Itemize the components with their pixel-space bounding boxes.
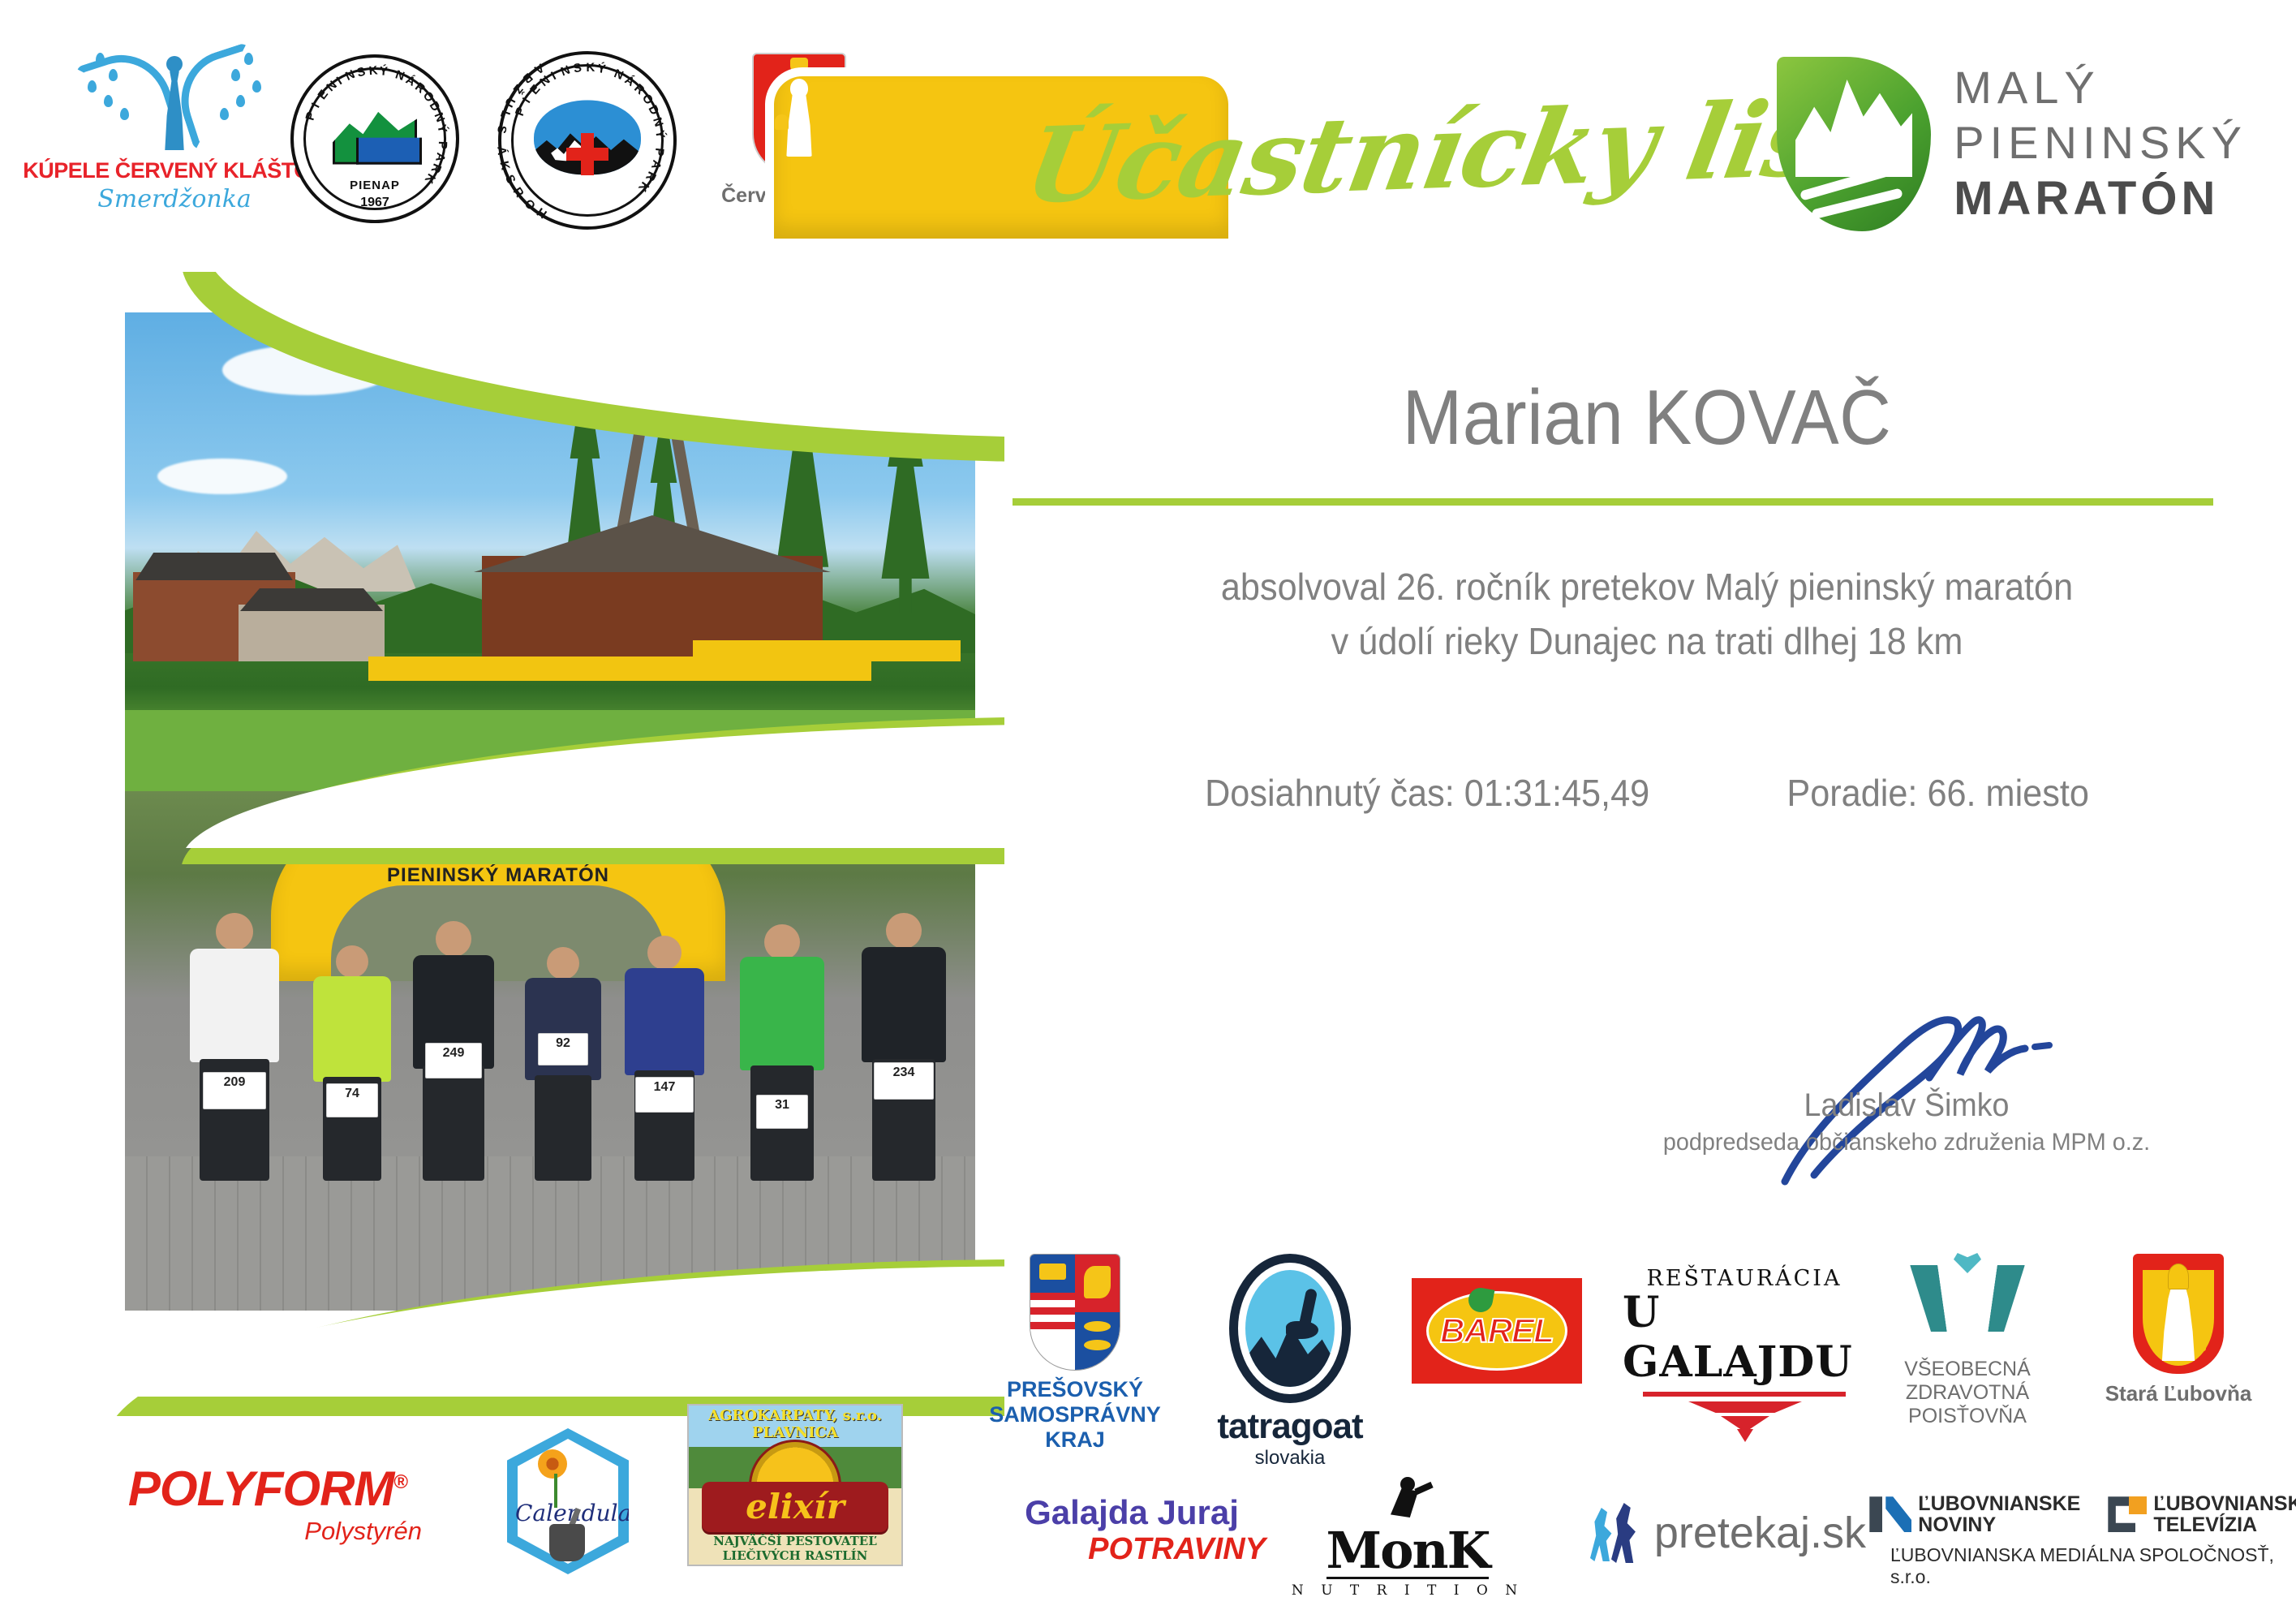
psk-line-1: PREŠOVSKÝ	[989, 1377, 1161, 1402]
runner: 147	[612, 929, 717, 1181]
runner: 209	[174, 913, 295, 1181]
page-title: Účastnícky list	[1014, 64, 1777, 243]
ln-logo-icon	[1869, 1496, 1911, 1532]
bib-number: 147	[635, 1077, 694, 1113]
tv-line-2: TELEVÍZIA	[2153, 1514, 2296, 1535]
sponsor-agrokarpaty-elixir: AGROKARPATY, s.r.o. PLAVNICA elixír NAJV…	[681, 1404, 909, 1566]
noviny-line-2: NOVINY	[1918, 1514, 2080, 1535]
monk-name: MonK	[1326, 1527, 1490, 1579]
mountain-red-cross-seal-icon: P I E N I N S K Ý N Á R O D N Ý P A R K	[498, 51, 677, 230]
bib-number: 92	[538, 1033, 588, 1065]
polyform-name: POLYFORM®	[128, 1461, 407, 1517]
psk-line-3: KRAJ	[989, 1427, 1161, 1453]
bib-number: 31	[756, 1095, 808, 1129]
pienap-year: 1967	[360, 196, 389, 210]
mpm-brand-logo: MALÝ PIENINSKÝ MARATÓN	[1777, 57, 2247, 231]
signature-block: Ladislav Šimko podpredseda občianskeho z…	[1647, 1006, 2166, 1156]
sponsor-pretekaj: pretekaj.sk	[1590, 1501, 1866, 1565]
coat-of-arms-monk-icon	[752, 53, 846, 176]
partner-logo-kupele-cerveny-klastor: KÚPELE ČERVENÝ KLÁŠTOR Smerdžonka	[73, 45, 276, 213]
lt-logo-icon	[2108, 1496, 2147, 1532]
elixir-footer-1: NAJVÄČŠÍ PESTOVATEĽ	[689, 1534, 901, 1548]
certificate-body: absolvoval 26. ročník pretekov Malý pien…	[1052, 560, 2242, 668]
sponsor-u-galajdu: REŠTAURÁCIA U GALAJDU	[1623, 1266, 1866, 1444]
vzp-line-2: ZDRAVOTNÁ	[1904, 1381, 2031, 1405]
brand-line-3: MARATÓN	[1954, 170, 2247, 228]
elixir-header: AGROKARPATY, s.r.o. PLAVNICA	[689, 1407, 901, 1441]
galajda-line-1: Galajda Juraj	[1025, 1493, 1239, 1532]
tatragoat-name: tatragoat	[1217, 1406, 1362, 1447]
angel-water-icon	[81, 45, 268, 158]
goat-mountain-icon	[1229, 1254, 1351, 1403]
polyform-sub: Polystyrén	[304, 1517, 422, 1546]
monk-sub: N U T R I T I O N	[1292, 1582, 1524, 1599]
sponsor-presovsky-kraj: PREŠOVSKÝ SAMOSPRÁVNY KRAJ	[982, 1254, 1168, 1453]
stara-lubovna-caption: Stará Ľubovňa	[2105, 1382, 2252, 1406]
psk-line-2: SAMOSPRÁVNY	[989, 1402, 1161, 1427]
green-leaf-mountain-icon	[1777, 57, 1931, 231]
partner-logo-horska-sluzba: P I E N I N S K Ý N Á R O D N Ý P A R K	[498, 51, 677, 230]
photo-collage: MALÝ PIENINSKÝ MARATÓN 209 74 249	[47, 272, 988, 1359]
coat-of-arms-icon	[1030, 1254, 1120, 1371]
bib-number: 249	[425, 1043, 482, 1078]
lubovnianske-noviny: ĽUBOVNIANSKE NOVINY	[1869, 1493, 2080, 1536]
bib-number: 74	[326, 1083, 378, 1117]
sponsor-vzp: VŠEOBECNÁ ZDRAVOTNÁ POISŤOVŇA	[1874, 1254, 2061, 1427]
vzp-line-3: POISŤOVŇA	[1904, 1405, 2031, 1428]
galajdu-line-2: U GALAJDU	[1623, 1288, 1866, 1387]
red-cross-icon	[566, 133, 608, 175]
signer-role: podpredseda občianskeho združenia MPM o.…	[1658, 1129, 2156, 1156]
galajda-line-2: POTRAVINY	[1088, 1532, 1266, 1567]
green-divider	[1013, 498, 2213, 506]
marathon-start-photo: MALÝ PIENINSKÝ MARATÓN 209 74 249	[125, 791, 975, 1311]
runner: 31	[725, 921, 839, 1181]
media-company-name: ĽUBOVNIANSKA MEDIÁLNA SPOLOČNOSŤ, s.r.o.	[1890, 1544, 2296, 1588]
sponsor-barel: BAREL	[1408, 1278, 1586, 1384]
sponsor-lubovnianska-media: ĽUBOVNIANSKE NOVINY ĽUBOVNIANSKA TELEVÍZ…	[1890, 1493, 2296, 1588]
sponsor-stara-lubovna: Stará Ľubovňa	[2089, 1254, 2268, 1406]
signer-name: Ladislav Šimko	[1662, 1087, 2151, 1124]
elixir-brand: elixír	[702, 1482, 888, 1532]
bib-number: 234	[874, 1062, 934, 1100]
folk-ornament-icon	[1643, 1392, 1846, 1444]
tatragoat-sub: slovakia	[1255, 1447, 1326, 1470]
elixir-footer-2: LIEČIVÝCH RASTLÍN	[689, 1548, 901, 1563]
finish-time: Dosiahnutý čas: 01:31:45,49	[1205, 771, 1649, 815]
barel-name: BAREL	[1440, 1311, 1554, 1350]
sponsor-tatragoat: tatragoat slovakia	[1193, 1254, 1387, 1470]
tv-line-1: ĽUBOVNIANSKA	[2153, 1493, 2296, 1514]
placing: Poradie: 66. miesto	[1786, 771, 2089, 815]
brand-line-1: MALÝ	[1954, 60, 2247, 115]
runners-crowd: 209 74 249 92	[125, 937, 975, 1181]
kck-title: KÚPELE ČERVENÝ KLÁŠTOR	[23, 158, 326, 183]
two-runners-icon	[1590, 1501, 1646, 1565]
runner: 234	[847, 913, 961, 1181]
results-row: Dosiahnutý čas: 01:31:45,49 Poradie: 66.…	[1052, 771, 2242, 815]
elixir-label-icon: AGROKARPATY, s.r.o. PLAVNICA elixír NAJV…	[687, 1404, 903, 1566]
pienap-label: PIENAP	[350, 179, 400, 192]
runner: 74	[303, 937, 401, 1181]
body-line-1: absolvoval 26. ročník pretekov Malý pien…	[1052, 560, 2242, 614]
runner: 249	[401, 921, 506, 1181]
calendula-name: Calendula	[515, 1500, 621, 1526]
sponsor-calendula: Calendula	[487, 1428, 649, 1574]
mountain-river-seal-icon: P I E N I N S K Ý N Á R O D N Ý P A R K	[290, 54, 459, 223]
bib-number: 209	[203, 1072, 266, 1109]
mortar-and-flower-icon: Calendula	[507, 1428, 629, 1574]
body-line-2: v údolí rieky Dunajec na trati dlhej 18 …	[1052, 614, 2242, 669]
runner: 92	[514, 937, 612, 1181]
running-monk-icon	[1379, 1477, 1436, 1527]
sponsor-monk-nutrition: MonK N U T R I T I O N	[1290, 1477, 1525, 1599]
participant-name: Marian KOVAČ	[1064, 373, 2229, 463]
brand-line-2: PIENINSKÝ	[1954, 115, 2247, 170]
arch-line-2: PIENINSKÝ MARATÓN	[271, 863, 725, 888]
barel-logo-icon: BAREL	[1412, 1278, 1582, 1384]
coat-of-arms-bishop-icon	[2133, 1254, 2224, 1374]
partner-logo-cerveny-klastor: Červený Kláštor	[722, 53, 876, 208]
registered-mark: ®	[393, 1471, 407, 1493]
kck-subtitle: Smerdžonka	[97, 185, 252, 213]
noviny-line-1: ĽUBOVNIANSKE	[1918, 1493, 2080, 1514]
sponsor-galajda-juraj: Galajda Juraj POTRAVINY	[998, 1493, 1266, 1567]
top-partner-logos: KÚPELE ČERVENÝ KLÁŠTOR Smerdžonka P I E …	[73, 45, 933, 256]
pretekaj-name: pretekaj.sk	[1654, 1508, 1866, 1558]
sponsor-polyform: POLYFORM® Polystyrén	[105, 1461, 430, 1546]
partner-logo-pienap: P I E N I N S K Ý N Á R O D N Ý P A R K	[290, 54, 459, 223]
lubovnianska-televizia: ĽUBOVNIANSKA TELEVÍZIA	[2108, 1493, 2296, 1536]
vzp-line-1: VŠEOBECNÁ	[1904, 1358, 2031, 1381]
vzp-v-icon	[1915, 1254, 2020, 1350]
